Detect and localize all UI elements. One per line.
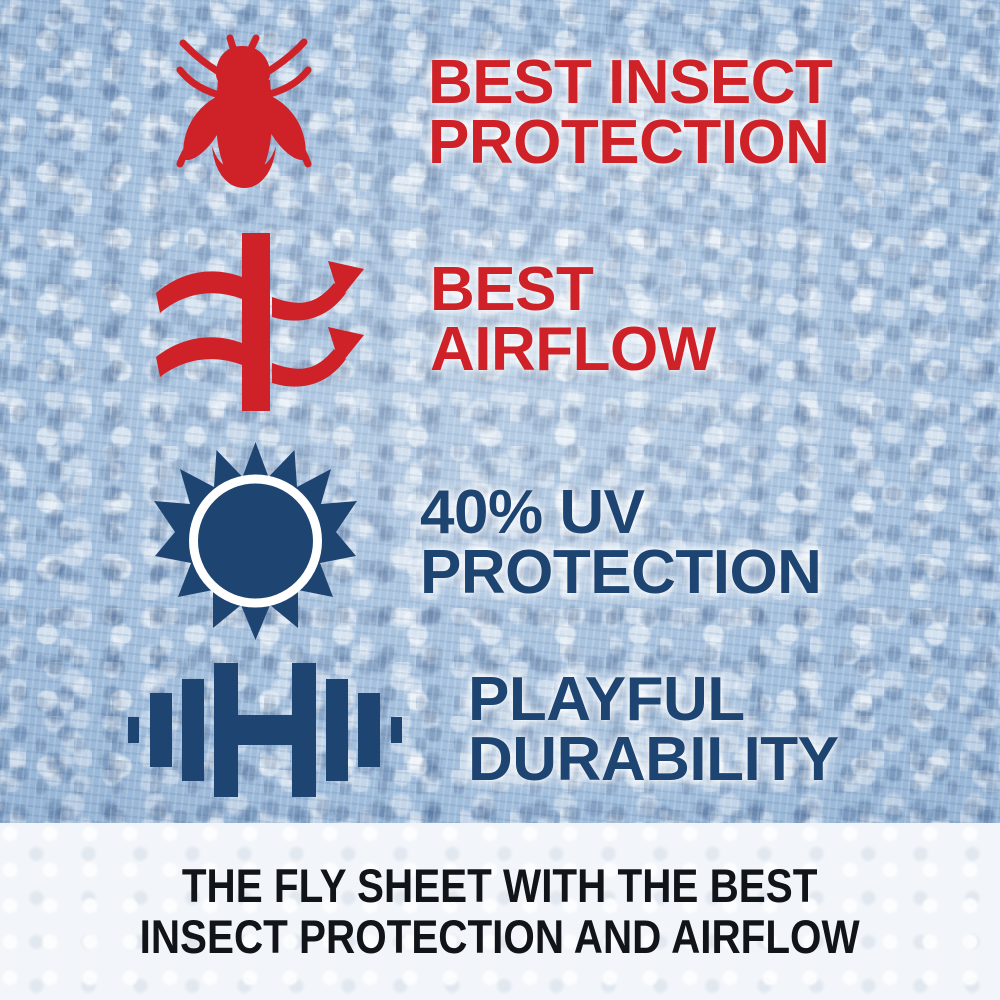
feature-label-uv-protection: 40% UV PROTECTION <box>420 483 821 602</box>
caption-bar: THE FLY SHEET WITH THE BEST INSECT PROTE… <box>0 823 1000 1000</box>
dumbbell-icon <box>120 655 410 805</box>
feature-row-insect-protection: BEST INSECT PROTECTION <box>150 18 990 208</box>
feature-row-airflow: BEST AIRFLOW <box>150 222 990 417</box>
feature-row-durability: PLAYFUL DURABILITY <box>120 650 990 810</box>
feature-label-airflow: BEST AIRFLOW <box>430 260 716 379</box>
fly-icon-cell <box>150 18 340 208</box>
caption-text: THE FLY SHEET WITH THE BEST INSECT PROTE… <box>140 861 860 963</box>
feature-row-uv-protection: 40% UV PROTECTION <box>150 440 990 645</box>
airflow-icon-cell <box>150 225 380 415</box>
feature-label-durability: PLAYFUL DURABILITY <box>468 670 838 789</box>
fly-icon <box>150 18 340 208</box>
infographic-page: BEST INSECT PROTECTION BEST AIRFLOW <box>0 0 1000 1000</box>
sun-icon <box>153 440 358 645</box>
feature-label-insect-protection: BEST INSECT PROTECTION <box>428 53 832 172</box>
airflow-arrows-icon <box>150 225 380 415</box>
dumbbell-icon-cell <box>120 655 410 805</box>
sun-icon-cell <box>150 440 360 645</box>
